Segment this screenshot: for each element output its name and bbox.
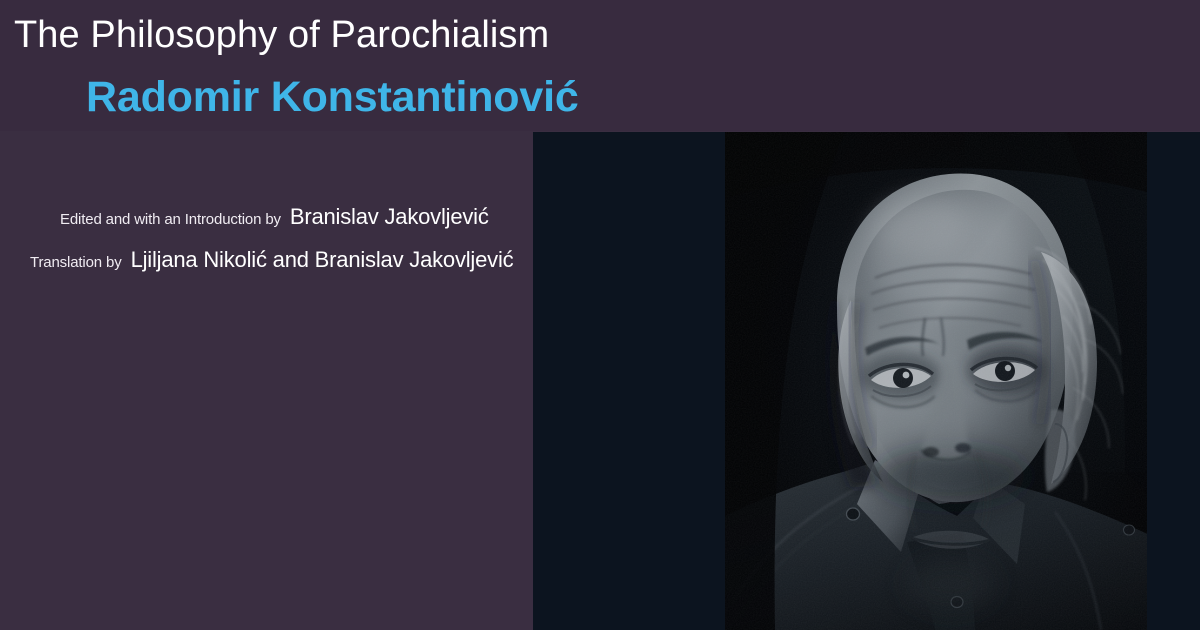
credit-editor-names: Branislav Jakovljević [290,204,489,229]
credit-line-editor: Edited and with an Introduction byBranis… [60,206,489,228]
credit-translation-prefix: Translation by [30,254,122,271]
credit-translation-names: Ljiljana Nikolić and Branislav Jakovljev… [131,247,514,272]
book-title: The Philosophy of Parochialism [14,14,549,58]
author-name: Radomir Konstantinović [86,73,579,122]
credit-editor-prefix: Edited and with an Introduction by [60,211,281,228]
author-portrait-photo [725,132,1147,630]
book-cover-banner: The Philosophy of Parochialism Radomir K… [0,0,1200,630]
credit-line-translation: Translation byLjiljana Nikolić and Brani… [30,249,513,271]
portrait-illustration [725,132,1147,630]
